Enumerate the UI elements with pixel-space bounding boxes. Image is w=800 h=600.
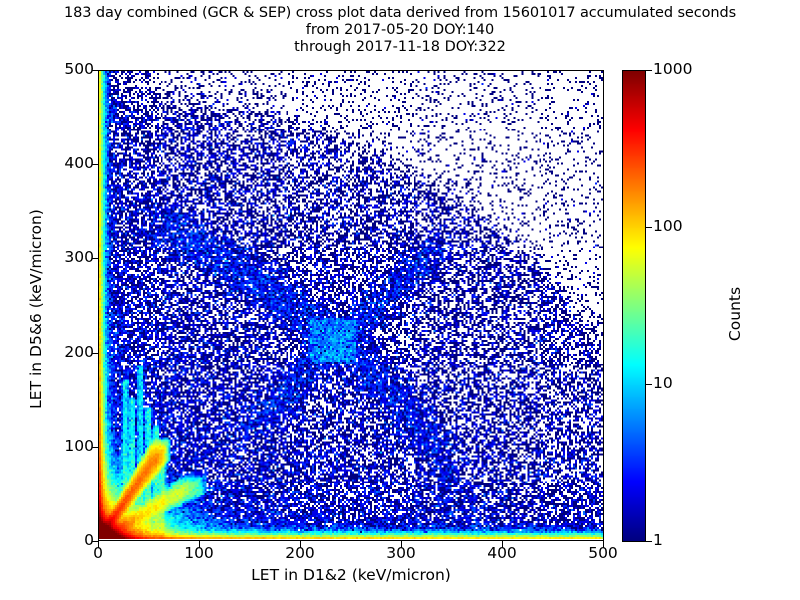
title-line-3: through 2017-11-18 DOY:322 bbox=[0, 39, 800, 56]
colorbar-label-1: 1 bbox=[653, 533, 663, 548]
y-tick-label-500: 500 bbox=[34, 62, 94, 77]
colorbar-tick-10 bbox=[646, 384, 652, 385]
density-heatmap-canvas bbox=[99, 71, 603, 540]
x-axis-label: LET in D1&2 (keV/micron) bbox=[98, 566, 604, 584]
colorbar bbox=[622, 70, 646, 542]
figure-title: 183 day combined (GCR & SEP) cross plot … bbox=[0, 5, 800, 56]
colorbar-label-100: 100 bbox=[653, 219, 683, 234]
plot-area bbox=[98, 70, 604, 541]
colorbar-tick-1 bbox=[646, 541, 652, 542]
title-line-1: 183 day combined (GCR & SEP) cross plot … bbox=[0, 5, 800, 22]
x-tick-label-400: 400 bbox=[467, 546, 537, 561]
colorbar-title: Counts bbox=[726, 234, 744, 394]
x-tick-label-100: 100 bbox=[164, 546, 234, 561]
x-tick-label-200: 200 bbox=[265, 546, 335, 561]
y-tick-label-400: 400 bbox=[34, 156, 94, 171]
x-tick-label-500: 500 bbox=[568, 546, 638, 561]
colorbar-tick-100 bbox=[646, 227, 652, 228]
x-tick-label-300: 300 bbox=[366, 546, 436, 561]
y-axis-label: LET in D5&6 (keV/micron) bbox=[27, 189, 45, 429]
colorbar-label-1000: 1000 bbox=[653, 62, 692, 77]
colorbar-label-10: 10 bbox=[653, 376, 673, 391]
figure-root: 183 day combined (GCR & SEP) cross plot … bbox=[0, 0, 800, 600]
x-tick-label-0: 0 bbox=[63, 546, 133, 561]
colorbar-gradient bbox=[623, 71, 645, 541]
y-tick-label-100: 100 bbox=[34, 439, 94, 454]
title-line-2: from 2017-05-20 DOY:140 bbox=[0, 22, 800, 39]
colorbar-tick-1000 bbox=[646, 70, 652, 71]
